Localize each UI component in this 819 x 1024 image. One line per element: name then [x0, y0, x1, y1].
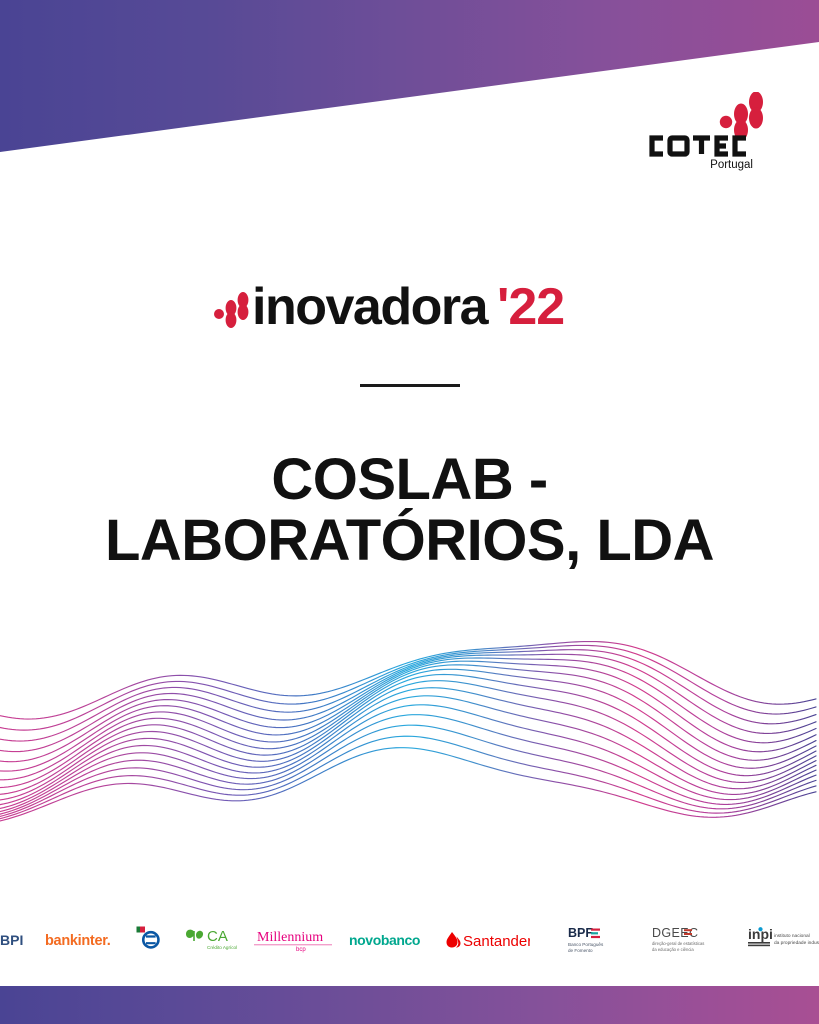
wave-line [0, 645, 816, 730]
wave-line [0, 665, 816, 780]
wave-line [0, 715, 816, 815]
bpf-subtitle-line-2: de Fomento [568, 948, 593, 953]
sponsor-group-institutions: BPF Banco Português de Fomento DGEEC [566, 924, 819, 956]
slide-page: Portugal inovadora '22 [0, 0, 819, 1024]
sponsor-logo-cgd [136, 926, 166, 954]
page-title-line-2: LABORATÓRIOS, LDA [40, 510, 780, 571]
inovadora-dot-mark [214, 292, 248, 328]
bpf-accent-bars [591, 929, 600, 939]
inpi-subtitle-line-2: da propriedade industrial [774, 940, 819, 946]
sponsor-logo-bar: BPI bankinter. [0, 912, 819, 968]
ca-wordmark: CA [207, 928, 228, 945]
millennium-wordmark: Millennium [257, 930, 323, 945]
ca-leaf-icon [186, 930, 203, 941]
santander-wordmark: Santander [463, 933, 530, 950]
center-content-block: inovadora '22 COSLAB - LABORATÓRIOS, LDA [0, 270, 819, 572]
cgd-flag [136, 927, 145, 933]
bankinter-wordmark: bankinter. [45, 933, 111, 949]
wave-line [0, 669, 816, 787]
bpi-wordmark: BPI [0, 932, 23, 948]
sponsor-logo-bpf: BPF Banco Português de Fomento [566, 924, 628, 956]
inpi-accent-bars [748, 942, 770, 946]
inpi-dot [758, 927, 762, 931]
wave-graphic [0, 636, 819, 851]
bpf-wordmark: BPF [568, 926, 593, 940]
bpf-subtitle-line-1: Banco Português [568, 942, 604, 947]
wave-line [0, 681, 816, 800]
page-title-line-1: COSLAB - [40, 449, 780, 510]
dgeec-subtitle-line-2: da educação e ciência [652, 947, 694, 952]
bottom-gradient-strip [0, 986, 819, 1024]
sponsor-logo-bankinter: bankinter. [45, 930, 119, 950]
dgeec-subtitle-line-1: direção-geral de estatísticas [652, 941, 704, 946]
sponsor-group-banks: BPI bankinter. [0, 926, 530, 954]
cotec-wordmark [652, 138, 746, 154]
sponsor-logo-inpi: inpi instituto nacional da propriedade i… [746, 924, 819, 956]
millennium-underline [254, 944, 332, 945]
novobanco-wordmark: novobanco [349, 932, 420, 948]
wave-line [0, 696, 816, 809]
sponsor-logo-santander: Santander [444, 929, 530, 951]
sponsor-logo-millennium-bcp: Millennium bcp [254, 927, 332, 953]
sponsor-logo-credito-agricola: CA Crédito Agrícola [183, 926, 237, 954]
cotec-dot-mark [720, 92, 763, 141]
sponsor-logo-novobanco: novobanco [349, 930, 427, 950]
page-title: COSLAB - LABORATÓRIOS, LDA [40, 449, 780, 572]
millennium-bcp-subtitle: bcp [296, 947, 306, 953]
title-divider [360, 384, 460, 387]
sponsor-logo-bpi: BPI [0, 930, 28, 950]
wave-line [0, 725, 816, 816]
ca-subtitle: Crédito Agrícola [207, 945, 237, 950]
inovadora-wordmark: inovadora [252, 278, 490, 336]
inovadora-year: '22 [497, 278, 564, 336]
cotec-logo: Portugal [640, 92, 770, 172]
santander-flame-icon [446, 932, 460, 948]
cgd-mark [143, 932, 158, 947]
inovadora-brand-logo: inovadora '22 [210, 270, 610, 342]
inpi-subtitle-line-1: instituto nacional [774, 933, 810, 939]
sponsor-logo-dgeec: DGEEC direção-geral de estatísticas da e… [650, 924, 724, 956]
cotec-subtitle: Portugal [710, 159, 753, 171]
wave-line [0, 748, 816, 821]
